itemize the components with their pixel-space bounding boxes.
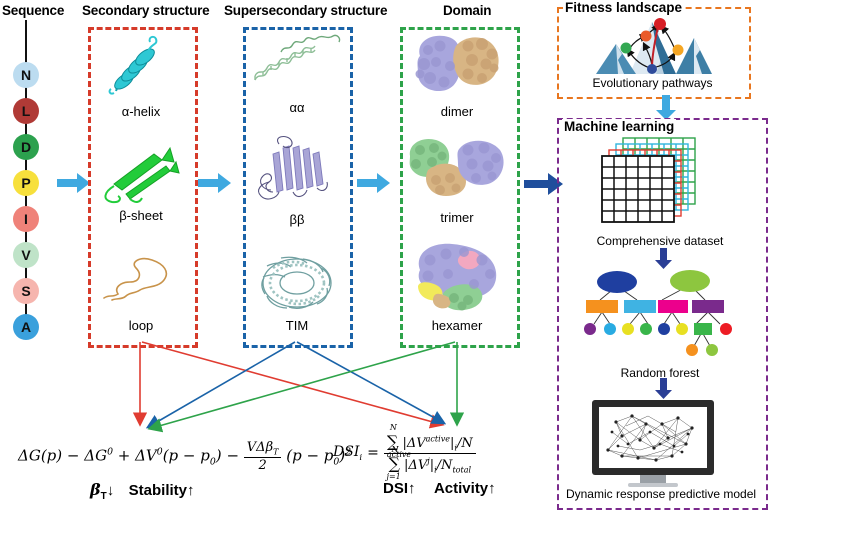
secondary-item-label-beta-sheet: β-sheet bbox=[96, 208, 186, 223]
dsi-equation: DSIi = N ∑ active |ΔVactive|i/N N ∑ j=1 … bbox=[333, 432, 476, 474]
forest-to-model-arrow bbox=[655, 378, 673, 400]
machine-learning-title: Machine learning bbox=[562, 119, 676, 134]
domain-item-label-hexamer: hexamer bbox=[404, 318, 510, 333]
dimer-graphic bbox=[406, 30, 508, 102]
flow-arrow-3 bbox=[357, 172, 391, 194]
residue-N: N bbox=[13, 62, 39, 88]
residue-A: A bbox=[13, 314, 39, 340]
cross-link-arrows bbox=[0, 338, 560, 448]
beta-sheet-graphic bbox=[96, 140, 186, 208]
tim-barrel-graphic bbox=[251, 250, 343, 316]
supersecondary-item-label-beta-beta: ββ bbox=[249, 212, 345, 227]
column-header-domain: Domain bbox=[443, 3, 491, 18]
fitness-landscape-caption: Evolutionary pathways bbox=[570, 76, 735, 90]
domain-item-label-trimer: trimer bbox=[404, 210, 510, 225]
loop-graphic bbox=[96, 248, 186, 310]
column-header-sequence: Sequence bbox=[2, 3, 64, 18]
domain-item-label-dimer: dimer bbox=[406, 104, 508, 119]
random-forest-graphic bbox=[580, 270, 745, 366]
supersecondary-item-label-tim: TIM bbox=[249, 318, 345, 333]
fitness-landscape-title: Fitness landscape bbox=[563, 0, 684, 15]
stability-equation: ΔG(p) − ΔG0 + ΔV0(p − p0) − VΔβT 2 (p − … bbox=[18, 440, 351, 473]
supersecondary-item-label-alpha-alpha: αα bbox=[249, 100, 345, 115]
residue-P: P bbox=[13, 170, 39, 196]
dsi-outcome: DSI↑ Activity↑ bbox=[383, 480, 496, 498]
secondary-item-label-loop: loop bbox=[96, 318, 186, 333]
alpha-helix-graphic bbox=[96, 33, 186, 103]
residue-S: S bbox=[13, 278, 39, 304]
flow-arrow-1 bbox=[57, 172, 91, 194]
predictive-model-caption: Dynamic response predictive model bbox=[556, 487, 766, 501]
comprehensive-dataset-graphic bbox=[593, 134, 723, 234]
stability-outcome: βT↓ Stability↑ bbox=[90, 480, 195, 502]
dataset-to-forest-arrow bbox=[655, 248, 673, 270]
trimer-graphic bbox=[404, 134, 510, 208]
flow-arrow-2 bbox=[198, 172, 232, 194]
alpha-alpha-graphic bbox=[249, 32, 345, 98]
dataset-caption: Comprehensive dataset bbox=[570, 234, 750, 248]
residue-V: V bbox=[13, 242, 39, 268]
residue-L: L bbox=[13, 98, 39, 124]
residue-D: D bbox=[13, 134, 39, 160]
column-header-secondary-structure: Secondary structure bbox=[82, 3, 210, 18]
column-header-supersecondary-structure: Supersecondary structure bbox=[224, 3, 387, 18]
beta-beta-graphic bbox=[249, 134, 345, 212]
hexamer-graphic bbox=[404, 240, 510, 316]
residue-I: I bbox=[13, 206, 39, 232]
fitness-landscape-graphic bbox=[590, 16, 720, 76]
secondary-item-label-alpha-helix: α-helix bbox=[96, 104, 186, 119]
predictive-model-monitor bbox=[588, 398, 728, 490]
